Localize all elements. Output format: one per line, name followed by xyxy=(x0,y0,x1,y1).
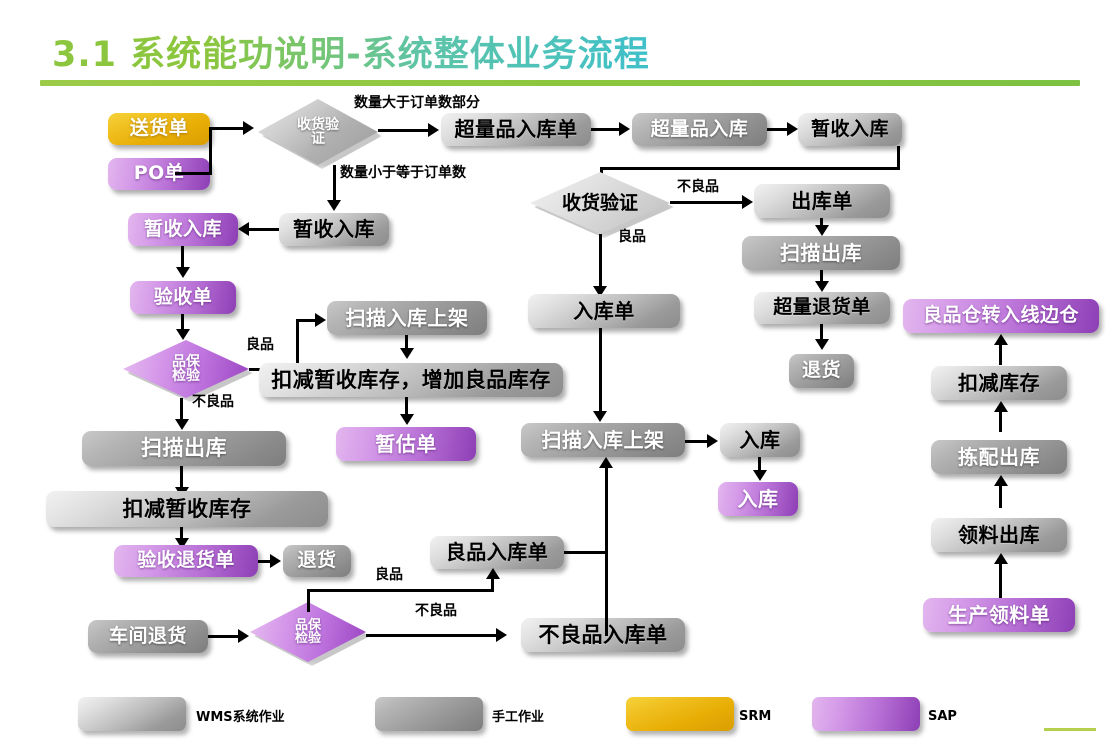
legend-label-srm: SRM xyxy=(739,709,771,724)
edge-verify1-to-excess xyxy=(378,129,430,132)
edge-pick-to-deduct xyxy=(999,410,1002,432)
node-excess-inbound-note[interactable]: 超量品入库单 xyxy=(441,113,591,146)
receipt-verify-1-label: 收货验证 xyxy=(295,118,341,146)
label-defective-bottom: 不良品 xyxy=(415,604,457,619)
edge-temp-top-left xyxy=(600,167,900,170)
arrow-scan-inbound-shelf-left xyxy=(315,313,326,327)
node-return-left[interactable]: 退货 xyxy=(283,545,351,577)
edge-quality1-up xyxy=(296,320,299,369)
legend-label-wms: WMS系统作业 xyxy=(196,706,285,725)
edge-workshop-to-quality2 xyxy=(208,635,240,638)
arrow-excess-note xyxy=(428,123,439,137)
legend-label-manual: 手工作业 xyxy=(492,706,544,725)
arrow-temp-receipt-mid xyxy=(327,200,341,211)
label-good-bottom: 良品 xyxy=(375,568,403,583)
legend-swatch-srm xyxy=(626,697,734,731)
arrow-excess-return-note xyxy=(815,281,829,292)
arrow-deduct-stock xyxy=(994,401,1008,412)
label-defective-top: 不良品 xyxy=(677,180,719,195)
edge-po-riser xyxy=(209,127,212,175)
arrow-pick-outbound xyxy=(994,475,1008,486)
edge-quality2-right-good xyxy=(307,589,494,592)
arrow-quality-check-1 xyxy=(176,329,190,340)
edge-good-up xyxy=(491,578,494,590)
arrow-to-verify-1 xyxy=(243,121,254,135)
legend-swatch-sap xyxy=(812,697,920,731)
node-delivery-note[interactable]: 送货单 xyxy=(108,113,210,145)
arrow-acceptance-note xyxy=(176,267,190,278)
arrow-return-left xyxy=(270,554,281,568)
legend-label-sap: SAP xyxy=(928,709,957,724)
arrow-inbound-gray xyxy=(707,434,718,448)
arrow-quality-check-2 xyxy=(238,629,249,643)
page-title: 3.1 系统能功说明-系统整体业务流程 xyxy=(52,26,650,77)
arrow-to-scan-inbound-mid xyxy=(599,457,613,468)
edge-quality2-to-defective xyxy=(366,634,498,637)
legend-swatch-manual xyxy=(375,697,483,731)
edge-prod-to-material xyxy=(999,562,1002,600)
edge-merge-riser xyxy=(605,466,608,636)
node-material-outbound[interactable]: 领料出库 xyxy=(931,518,1067,552)
arrow-return-right xyxy=(815,339,829,350)
edge-verify2-down xyxy=(599,234,602,289)
edge-scan-mid-to-inbound xyxy=(685,440,709,443)
edge-inbound-note-down xyxy=(599,328,602,414)
edge-deduct-to-transfer xyxy=(999,343,1002,365)
arrow-temp-receipt-left xyxy=(238,222,249,236)
arrow-good-warehouse-transfer xyxy=(994,334,1008,345)
page-header: 3.1 系统能功说明-系统整体业务流程 xyxy=(0,12,1107,72)
arrow-scan-outbound-left xyxy=(175,419,189,430)
node-scan-outbound-left[interactable]: 扫描出库 xyxy=(82,431,286,466)
node-production-material-note[interactable]: 生产领料单 xyxy=(923,598,1075,632)
node-deduct-temp-add-good[interactable]: 扣减暂收库存，增加良品库存 xyxy=(259,363,563,397)
node-temp-receipt-left[interactable]: 暂收入库 xyxy=(128,213,238,246)
edge-delivery-to-verify xyxy=(210,127,246,130)
arrow-scan-outbound-right xyxy=(815,225,829,236)
arrow-outbound-note xyxy=(742,195,753,209)
arrow-temp-receipt-top xyxy=(787,122,798,136)
node-inbound-purple[interactable]: 入库 xyxy=(718,482,798,516)
node-deduct-stock[interactable]: 扣减库存 xyxy=(931,366,1067,400)
arrow-scan-inbound-shelf-mid xyxy=(593,411,607,422)
node-temp-receipt-mid[interactable]: 暂收入库 xyxy=(279,213,389,246)
edge-quality2-up xyxy=(307,590,310,612)
node-workshop-return[interactable]: 车间退货 xyxy=(88,620,208,653)
arrow-inbound-purple xyxy=(753,470,767,481)
node-good-inbound-note[interactable]: 良品入库单 xyxy=(430,536,564,569)
edge-excess-to-temp-top xyxy=(767,128,789,131)
legend-swatch-wms xyxy=(78,697,186,731)
edge-temp-mid-to-left xyxy=(247,228,279,231)
node-inbound-gray[interactable]: 入库 xyxy=(720,423,800,457)
edge-po-to-riser xyxy=(175,172,212,175)
edge-excess-note-to-excess xyxy=(591,128,621,131)
node-receipt-verify-2[interactable]: 收货验证 xyxy=(530,172,670,234)
node-inbound-note-mid[interactable]: 入库单 xyxy=(528,294,680,328)
node-acceptance-return-note[interactable]: 验收退货单 xyxy=(114,545,258,577)
bottom-accent-rule xyxy=(1044,728,1096,731)
arrow-excess-inbound xyxy=(619,122,630,136)
node-deduct-temp-stock[interactable]: 扣减暂收库存 xyxy=(46,491,328,527)
node-acceptance-note[interactable]: 验收单 xyxy=(130,281,236,314)
node-temp-receipt-top[interactable]: 暂收入库 xyxy=(798,113,902,146)
label-good-top: 良品 xyxy=(618,230,646,245)
node-scan-outbound-right[interactable]: 扫描出库 xyxy=(742,236,900,270)
node-return-right[interactable]: 退货 xyxy=(789,354,854,388)
label-qty-greater: 数量大于订单数部分 xyxy=(354,96,480,111)
node-outbound-note[interactable]: 出库单 xyxy=(754,184,890,218)
edge-verify1-down xyxy=(333,165,336,204)
arrow-provisional-note xyxy=(400,414,414,425)
node-scan-inbound-shelf-left[interactable]: 扫描入库上架 xyxy=(327,301,487,335)
quality-check-2-label: 品保检验 xyxy=(293,619,323,645)
node-scan-inbound-shelf-mid[interactable]: 扫描入库上架 xyxy=(521,423,685,457)
node-excess-return-note[interactable]: 超量退货单 xyxy=(754,292,890,324)
label-qty-less-equal: 数量小于等于订单数 xyxy=(340,166,466,181)
arrow-deduct-temp-add-good xyxy=(400,348,414,359)
arrow-defective-inbound-note xyxy=(496,628,507,642)
quality-check-1-label: 品保检验 xyxy=(169,355,203,383)
edge-verify2-to-outbound xyxy=(670,201,745,204)
node-quality-check-1[interactable]: 品保检验 xyxy=(123,340,249,398)
node-defective-inbound-note[interactable]: 不良品入库单 xyxy=(521,618,685,652)
edge-good-inbound-right xyxy=(564,551,608,554)
arrow-good-inbound-note xyxy=(486,568,500,579)
label-good-left: 良品 xyxy=(246,338,274,353)
edge-material-to-pick xyxy=(999,484,1002,508)
node-pick-outbound[interactable]: 拣配出库 xyxy=(931,440,1067,474)
label-defective-left: 不良品 xyxy=(192,395,234,410)
node-excess-inbound[interactable]: 超量品入库 xyxy=(632,113,767,146)
node-provisional-note[interactable]: 暂估单 xyxy=(336,427,476,461)
arrow-material-outbound xyxy=(994,553,1008,564)
title-divider xyxy=(40,80,1080,86)
node-good-warehouse-transfer[interactable]: 良品仓转入线边仓 xyxy=(903,299,1099,333)
